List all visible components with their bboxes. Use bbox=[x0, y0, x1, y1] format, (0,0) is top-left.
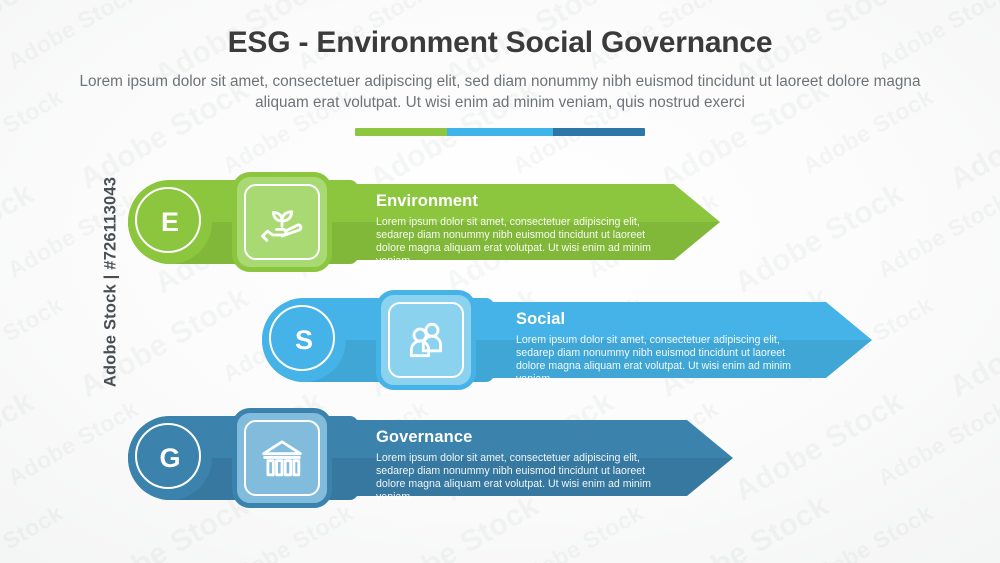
esg-row-environment[interactable]: EEnvironmentLorem ipsum dolor sit amet, … bbox=[128, 172, 740, 272]
header: ESG - Environment Social Governance Lore… bbox=[0, 0, 1000, 113]
divider-segment-0 bbox=[355, 128, 447, 136]
row-letter-badge-environment[interactable]: E bbox=[128, 180, 212, 264]
row-body-social: Lorem ipsum dolor sit amet, consectetuer… bbox=[516, 334, 816, 386]
watermark-tile: Adobe Stock bbox=[0, 499, 68, 563]
watermark-tile: Adobe Stock bbox=[729, 177, 910, 301]
watermark-tile: Adobe Stock bbox=[508, 499, 648, 563]
row-title-environment: Environment bbox=[376, 192, 676, 210]
row-icon-box-governance[interactable] bbox=[232, 408, 332, 508]
row-letter-badge-social[interactable]: S bbox=[262, 298, 346, 382]
row-letter-social: S bbox=[295, 327, 313, 354]
watermark-tile: Adobe Stock bbox=[218, 499, 358, 563]
row-icon-box-environment[interactable] bbox=[232, 172, 332, 272]
row-letter-governance: G bbox=[159, 445, 180, 472]
watermark-tile: Adobe Stock bbox=[3, 395, 143, 491]
row-body-environment: Lorem ipsum dolor sit amet, consectetuer… bbox=[376, 216, 676, 268]
adobe-stock-watermark-label: Adobe Stock | #726113043 bbox=[102, 176, 121, 386]
row-title-governance: Governance bbox=[376, 428, 676, 446]
row-text-environment: EnvironmentLorem ipsum dolor sit amet, c… bbox=[376, 192, 676, 268]
watermark-tile: Adobe Stock bbox=[0, 385, 40, 509]
watermark-tile: Adobe Stock bbox=[873, 187, 1000, 283]
people-group-icon bbox=[400, 314, 452, 366]
divider-segment-1 bbox=[447, 128, 553, 136]
watermark-tile: Adobe Stock bbox=[729, 385, 910, 509]
row-title-social: Social bbox=[516, 310, 816, 328]
watermark-tile: Adobe Stock bbox=[3, 187, 143, 283]
watermark-tile: Adobe Stock bbox=[798, 499, 938, 563]
esg-row-governance[interactable]: GGovernanceLorem ipsum dolor sit amet, c… bbox=[128, 408, 753, 508]
row-text-social: SocialLorem ipsum dolor sit amet, consec… bbox=[516, 310, 816, 386]
row-icon-box-social[interactable] bbox=[376, 290, 476, 390]
page-subtitle: Lorem ipsum dolor sit amet, consectetuer… bbox=[70, 60, 930, 113]
divider-segment-2 bbox=[553, 128, 645, 136]
infographic-canvas: Adobe StockAdobe StockAdobe StockAdobe S… bbox=[0, 0, 1000, 563]
row-letter-environment: E bbox=[161, 209, 179, 236]
page-title: ESG - Environment Social Governance bbox=[0, 0, 1000, 60]
watermark-tile: Adobe Stock bbox=[0, 177, 40, 301]
watermark-tile: Adobe Stock bbox=[0, 291, 68, 387]
bank-building-icon bbox=[256, 432, 308, 484]
esg-row-social[interactable]: SSocialLorem ipsum dolor sit amet, conse… bbox=[262, 290, 892, 390]
watermark-tile: Adobe Stock bbox=[873, 395, 1000, 491]
plant-in-hand-icon bbox=[256, 196, 308, 248]
row-body-governance: Lorem ipsum dolor sit amet, consectetuer… bbox=[376, 452, 676, 504]
watermark-tile: Adobe Stock bbox=[944, 281, 1000, 405]
row-text-governance: GovernanceLorem ipsum dolor sit amet, co… bbox=[376, 428, 676, 504]
watermark-tile: Adobe Stock bbox=[944, 489, 1000, 563]
row-letter-badge-governance[interactable]: G bbox=[128, 416, 212, 500]
accent-divider-bar bbox=[355, 128, 645, 136]
